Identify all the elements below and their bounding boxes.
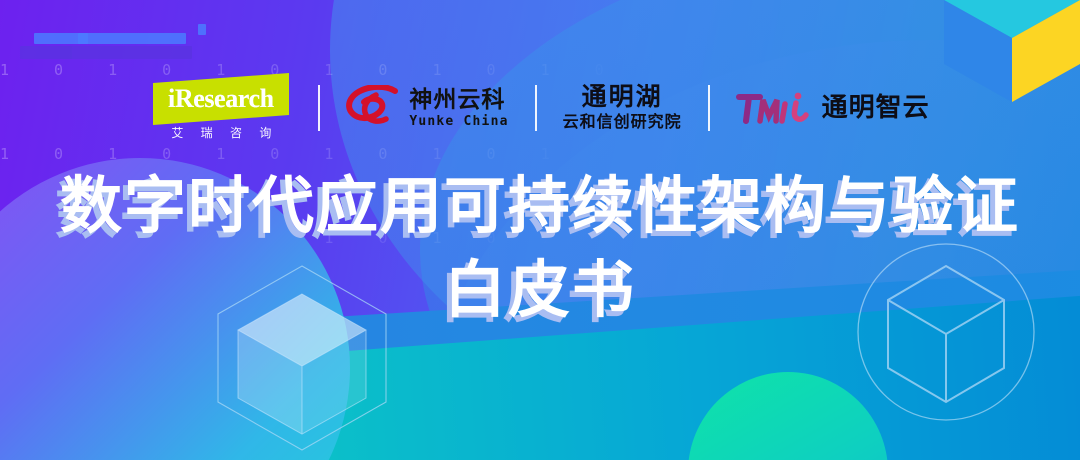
whitepaper-cover-banner: 1 0 1 0 1 0 1 0 1 0 1 0 1 0 1 0 1 0 1 0 …: [0, 0, 1080, 460]
accent-bar: [60, 46, 192, 59]
accent-bar: [198, 24, 206, 35]
yunke-swirl-icon: [346, 85, 400, 131]
logo-divider: [708, 85, 710, 131]
yunke-name-en: Yunke China: [409, 115, 508, 128]
logo-tongming-zhiyun[interactable]: 通明智云: [736, 90, 930, 126]
page-title-line-1: 数字时代应用可持续性架构与验证: [0, 164, 1080, 248]
iresearch-wordmark: iResearch: [168, 86, 274, 112]
tongminghu-name-cn: 通明湖: [582, 85, 663, 110]
logo-tongminghu[interactable]: 通明湖 云和信创研究院: [563, 85, 682, 131]
logo-divider: [535, 85, 537, 131]
iresearch-logo-block: iResearch: [153, 73, 289, 125]
yunke-name-cn: 神州云科: [409, 89, 508, 112]
cover-title: 数字时代应用可持续性架构与验证 白皮书: [0, 164, 1080, 332]
partner-logo-bar: iResearch 艾 瑞 咨 询 神州云科 Yunke China 通明湖 云…: [0, 66, 1080, 150]
logo-yunke-china[interactable]: 神州云科 Yunke China: [346, 85, 508, 131]
iresearch-subtitle: 艾 瑞 咨 询: [164, 127, 278, 139]
logo-iresearch[interactable]: iResearch 艾 瑞 咨 询: [150, 78, 292, 139]
tmi-wordmark-icon: [736, 90, 812, 126]
accent-bar: [78, 33, 186, 44]
tmi-name-cn: 通明智云: [822, 95, 930, 121]
logo-divider: [318, 85, 320, 131]
tongminghu-subtitle-cn: 云和信创研究院: [563, 115, 682, 131]
yunke-text-block: 神州云科 Yunke China: [409, 89, 508, 128]
page-title-line-2: 白皮书: [0, 248, 1080, 332]
